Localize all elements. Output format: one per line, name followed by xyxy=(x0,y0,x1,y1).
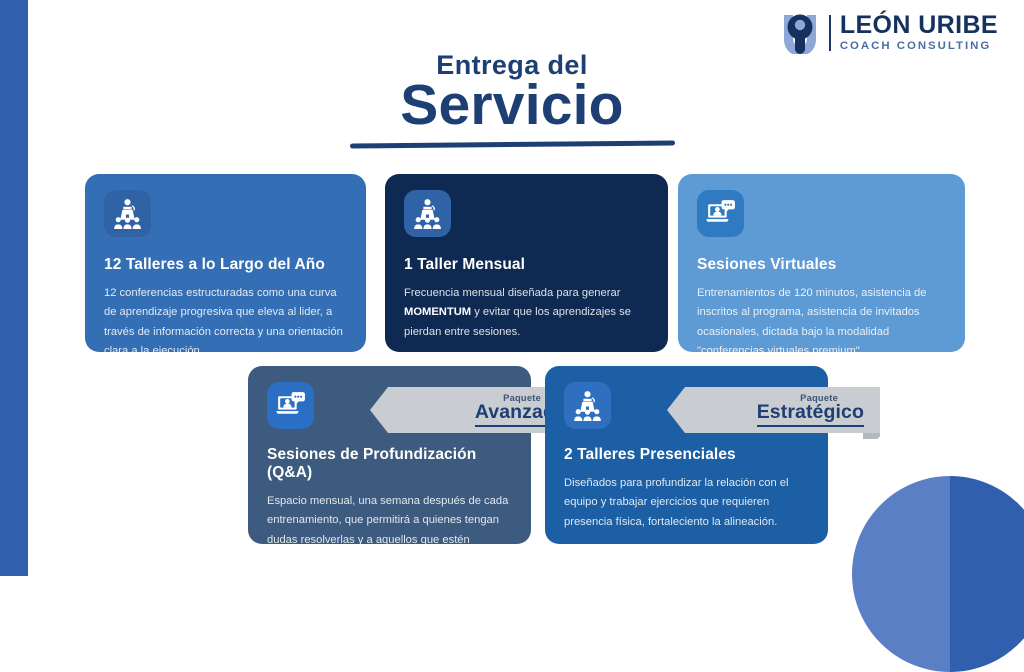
circle-half-light xyxy=(852,476,950,672)
lu-monogram-icon xyxy=(780,12,820,54)
card-heading: 2 Talleres Presenciales xyxy=(564,446,809,464)
laptop-chat-icon xyxy=(697,190,744,237)
title-line-2: Servicio xyxy=(0,76,1024,134)
title-underline xyxy=(349,141,674,149)
card-heading: Sesiones de Profundización (Q&A) xyxy=(267,446,512,482)
card-body: Entrenamientos de 120 minutos, asistenci… xyxy=(697,284,946,361)
podium-audience-icon xyxy=(564,382,611,429)
card-heading: Sesiones Virtuales xyxy=(697,256,946,274)
podium-audience-icon xyxy=(404,190,451,237)
card-2-talleres-presenciales[interactable]: Paquete Estratégico 2 Talleres Presencia… xyxy=(545,366,828,544)
podium-audience-icon xyxy=(104,190,151,237)
card-body: Diseñados para profundizar la relación c… xyxy=(564,474,809,532)
card-body: Espacio mensual, una semana después de c… xyxy=(267,492,512,588)
card-sesiones-virtuales[interactable]: Sesiones Virtuales Entrenamientos de 120… xyxy=(678,174,965,352)
logo-name: LEÓN URIBE xyxy=(840,13,998,38)
card-1-taller-mensual[interactable]: 1 Taller Mensual Frecuencia mensual dise… xyxy=(385,174,668,352)
card-sesiones-profundizacion[interactable]: Paquete Avanzado Sesiones de Profundizac… xyxy=(248,366,531,544)
logo-tagline: COACH CONSULTING xyxy=(840,41,998,52)
card-12-talleres[interactable]: 12 Talleres a lo Largo del Año 12 confer… xyxy=(85,174,366,352)
logo-wordmark: LEÓN URIBE COACH CONSULTING xyxy=(840,13,998,52)
card-body: 12 conferencias estructuradas como una c… xyxy=(104,284,347,361)
logo-divider xyxy=(829,15,831,51)
card-body: Frecuencia mensual diseñada para generar… xyxy=(404,284,649,342)
ribbon-paquete-estrategico: Paquete Estratégico xyxy=(667,387,880,433)
page-title: Entrega del Servicio xyxy=(0,52,1024,147)
ribbon-label-big: Estratégico xyxy=(757,402,864,427)
brand-logo: LEÓN URIBE COACH CONSULTING xyxy=(780,12,998,54)
card-heading: 1 Taller Mensual xyxy=(404,256,649,274)
circle-half-dark xyxy=(950,476,1024,672)
card-heading: 12 Talleres a lo Largo del Año xyxy=(104,256,347,274)
card-body-pre: Frecuencia mensual diseñada para generar xyxy=(404,287,620,299)
laptop-chat-icon xyxy=(267,382,314,429)
card-body-emphasis: MOMENTUM xyxy=(404,306,471,318)
corner-decoration-circle xyxy=(852,476,1024,672)
